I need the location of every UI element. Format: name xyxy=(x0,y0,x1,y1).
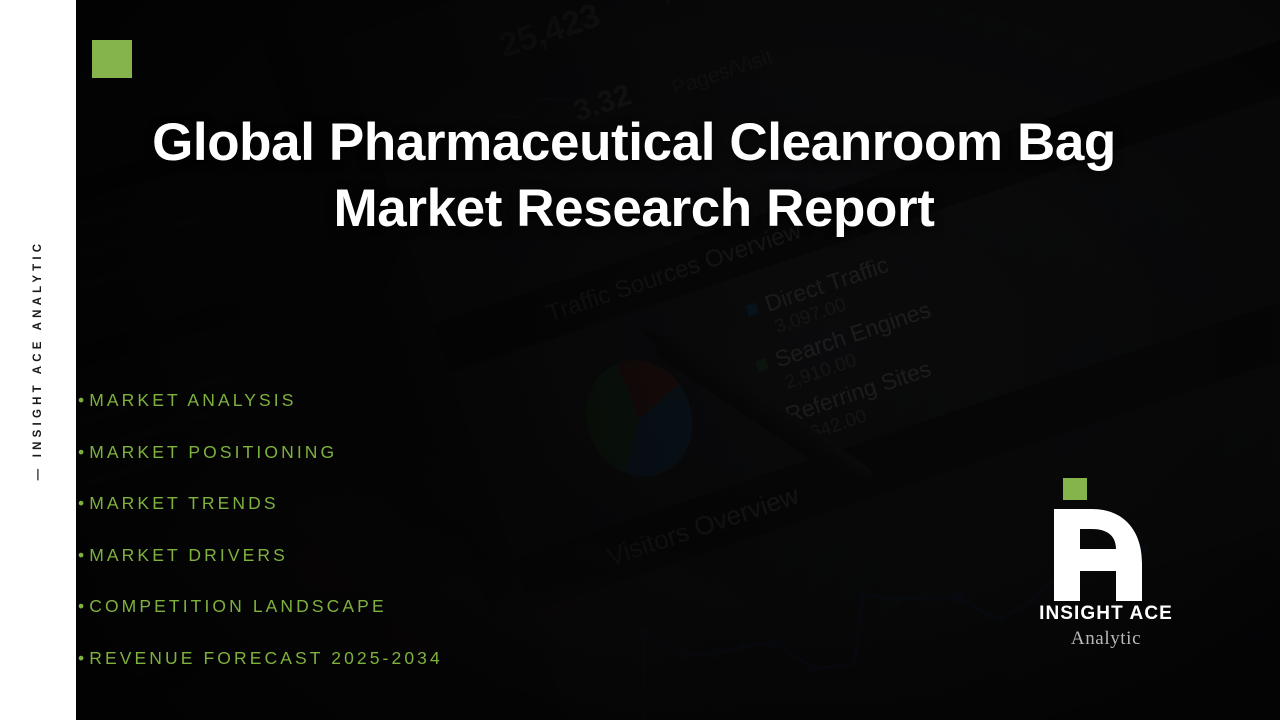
bullet-dot-icon: • xyxy=(78,650,87,668)
logo-name: INSIGHT ACE xyxy=(1006,603,1206,625)
slide-content: Global Pharmaceutical Cleanroom Bag Mark… xyxy=(0,0,1280,720)
bullet-dot-icon: • xyxy=(78,495,87,513)
brand-logo: INSIGHT ACE Analytic xyxy=(1006,478,1206,658)
bullet-dot-icon: • xyxy=(78,444,87,462)
bullet-dot-icon: • xyxy=(78,598,87,616)
bullet-dot-icon: • xyxy=(78,392,87,410)
accent-square xyxy=(92,40,132,78)
list-item-label: COMPETITION LANDSCAPE xyxy=(89,596,387,617)
list-item-label: MARKET ANALYSIS xyxy=(89,390,296,411)
page-title: Global Pharmaceutical Cleanroom Bag Mark… xyxy=(109,110,1159,242)
list-item-label: MARKET POSITIONING xyxy=(89,442,337,463)
list-item: • MARKET TRENDS xyxy=(78,493,443,545)
page-title-line-1: Global Pharmaceutical Cleanroom xyxy=(152,113,1003,172)
topic-list: • MARKET ANALYSIS • MARKET POSITIONING •… xyxy=(78,390,443,699)
presentation-slide: 25,423 Pageviews 3.32 Pages/Visit Traffi… xyxy=(0,0,1280,720)
list-item-label: REVENUE FORECAST 2025-2034 xyxy=(89,648,443,669)
logo-accent-square-icon xyxy=(1063,478,1087,500)
list-item-label: MARKET TRENDS xyxy=(89,493,278,514)
left-sidebar: — INSIGHT ACE ANALYTIC xyxy=(0,0,76,720)
list-item: • MARKET POSITIONING xyxy=(78,442,443,494)
list-item: • MARKET ANALYSIS xyxy=(78,390,443,442)
list-item: • COMPETITION LANDSCAPE xyxy=(78,596,443,648)
list-item: • MARKET DRIVERS xyxy=(78,545,443,597)
list-item-label: MARKET DRIVERS xyxy=(89,545,288,566)
bullet-dot-icon: • xyxy=(78,547,87,565)
list-item: • REVENUE FORECAST 2025-2034 xyxy=(78,648,443,700)
sidebar-brand-vertical-label: — INSIGHT ACE ANALYTIC xyxy=(32,240,44,481)
logo-a-mark-icon xyxy=(1046,505,1166,601)
logo-tagline: Analytic xyxy=(1006,628,1206,650)
